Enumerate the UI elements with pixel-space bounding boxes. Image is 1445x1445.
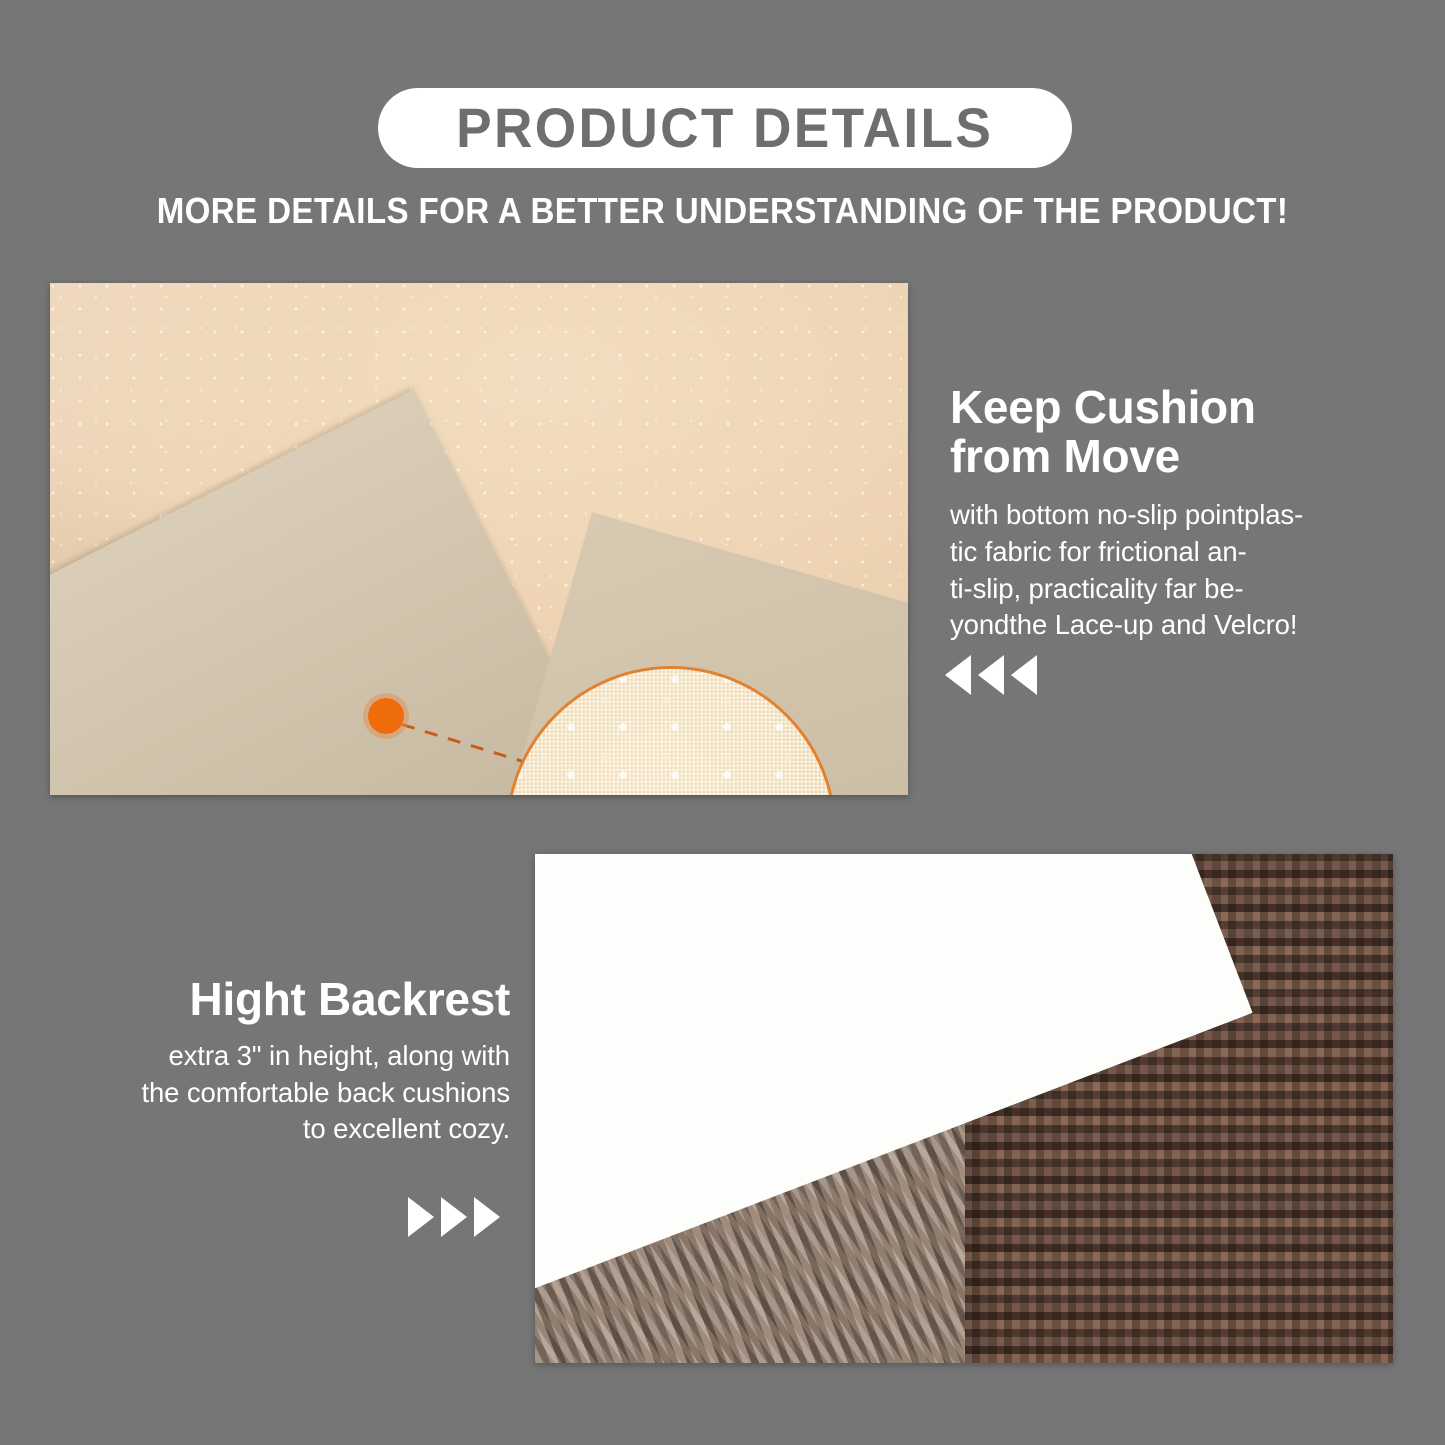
page-title: PRODUCT DETAILS xyxy=(456,100,993,156)
rattan-photo-whitespace-top xyxy=(535,854,975,974)
fabric-magnifier-circle xyxy=(506,666,836,795)
triangle-left-icon xyxy=(945,655,971,695)
arrows-right-icon xyxy=(408,1197,500,1237)
callout-marker-dot xyxy=(368,698,404,734)
magnifier-grip-dots xyxy=(509,669,833,795)
triangle-left-icon xyxy=(978,655,1004,695)
triangle-right-icon xyxy=(474,1197,500,1237)
product-details-page: PRODUCT DETAILS MORE DETAILS FOR A BETTE… xyxy=(0,0,1445,1445)
feature-heading: Hight Backrest xyxy=(60,975,510,1024)
page-title-pill: PRODUCT DETAILS xyxy=(378,88,1072,168)
page-subtitle: MORE DETAILS FOR A BETTER UNDERSTANDING … xyxy=(58,190,1387,232)
feature-heading: Keep Cushion from Move xyxy=(950,383,1370,481)
triangle-right-icon xyxy=(441,1197,467,1237)
cushion-photo xyxy=(50,283,908,795)
triangle-left-icon xyxy=(1011,655,1037,695)
feature-block-keep-cushion-from-move: Keep Cushion from Move with bottom no-sl… xyxy=(950,383,1370,644)
triangle-right-icon xyxy=(408,1197,434,1237)
arrows-left-icon xyxy=(945,655,1037,695)
rattan-backrest-photo xyxy=(535,854,1393,1363)
feature-block-hight-backrest: Hight Backrest extra 3" in height, along… xyxy=(60,975,510,1148)
feature-body: extra 3" in height, along with the comfo… xyxy=(60,1038,510,1148)
feature-body: with bottom no-slip pointplas- tic fabri… xyxy=(950,497,1370,643)
